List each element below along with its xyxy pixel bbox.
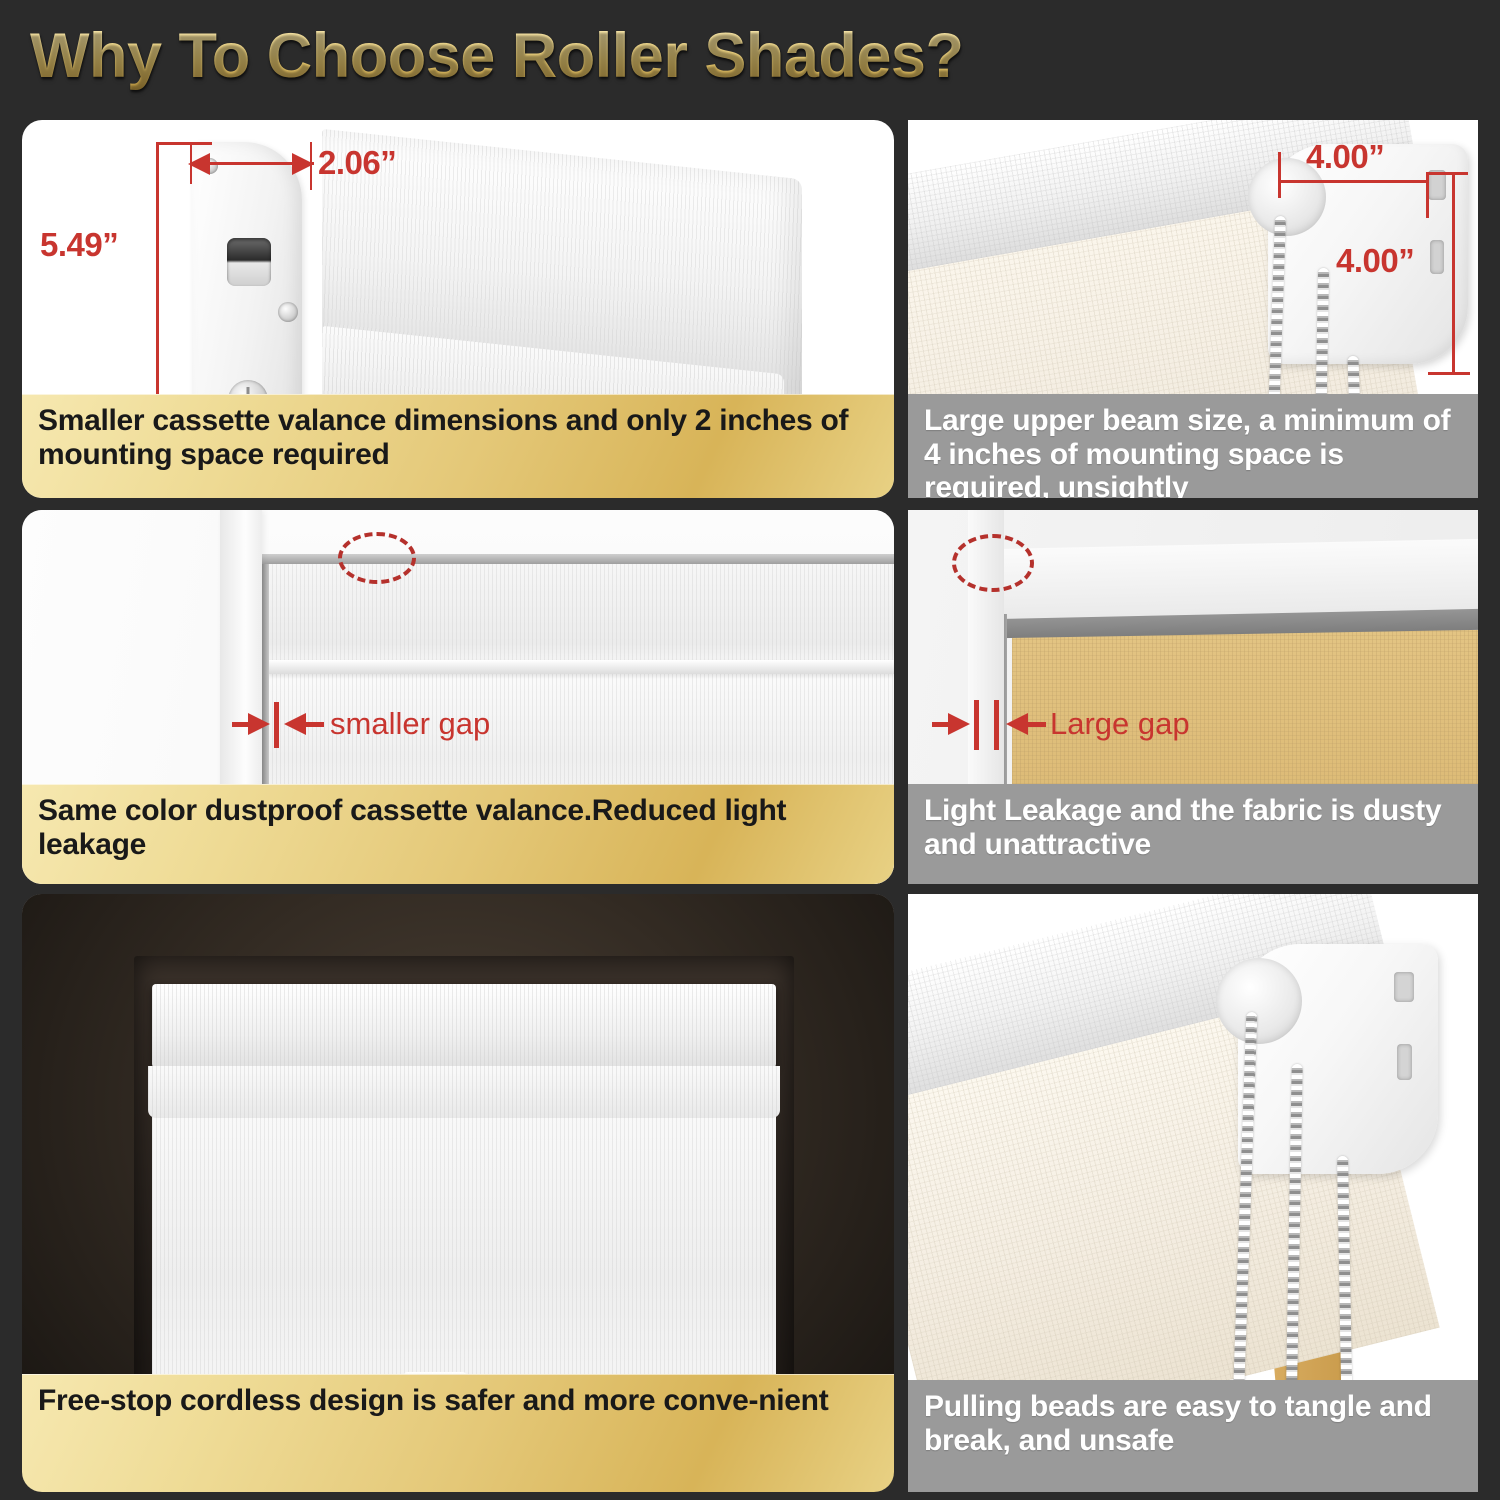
header-bar: Why To Choose Roller Shades?	[0, 0, 1500, 112]
shade-fabric-panel	[152, 1116, 776, 1386]
large-gap-label: Large gap	[1050, 706, 1190, 742]
gap-arrow-left-pointing	[1006, 713, 1028, 735]
cassette-mid-rail	[268, 660, 894, 674]
height-dim-tick-top	[156, 142, 212, 145]
comparison-grid: 2.06” 5.49” Smaller cassette valance dim…	[0, 112, 1500, 1500]
smaller-gap-label: smaller gap	[330, 706, 490, 742]
caption-dustproof-cassette: Same color dustproof cassette valance.Re…	[22, 784, 894, 884]
width-dim-arrow-left	[188, 153, 210, 175]
gap-tick-mark-outer	[994, 700, 999, 750]
highlight-ellipse-bracket	[952, 534, 1034, 592]
gap-tick-mark	[274, 702, 279, 748]
caption-free-stop-cordless: Free-stop cordless design is safer and m…	[22, 1374, 894, 1492]
panel-image-pulling-beads: Pulling beads are easy to tangle and bre…	[908, 894, 1478, 1492]
highlight-ellipse-seam	[338, 532, 416, 584]
panel-free-stop-cordless[interactable]: Free-stop cordless design is safer and m…	[22, 894, 894, 1492]
beam-height-tick-top	[1428, 172, 1468, 175]
beam-height-label: 4.00”	[1336, 242, 1414, 280]
panel-smaller-cassette-valance[interactable]: 2.06” 5.49” Smaller cassette valance dim…	[22, 120, 894, 498]
valance-slot	[227, 238, 271, 286]
gap-tick-mark-inner	[974, 700, 979, 750]
caption-light-leakage: Light Leakage and the fabric is dusty an…	[908, 784, 1478, 884]
cassette-valance-lower	[148, 1066, 780, 1118]
panel-image-free-stop-cordless: Free-stop cordless design is safer and m…	[22, 894, 894, 1492]
panel-image-large-upper-beam: 4.00” 4.00” Large upper beam size, a min…	[908, 120, 1478, 498]
gap-arrow-right-pointing	[948, 713, 970, 735]
beam-width-dim-line	[1280, 180, 1428, 183]
width-dim-arrow-right	[292, 153, 314, 175]
page-title: Why To Choose Roller Shades?	[30, 20, 963, 92]
gap-arrow-left-pointing	[284, 713, 306, 735]
panel-dustproof-cassette[interactable]: smaller gap Same color dustproof cassett…	[22, 510, 894, 884]
beam-width-tick-right	[1426, 172, 1429, 218]
gap-arrow-right-pointing	[248, 713, 270, 735]
panel-large-upper-beam[interactable]: 4.00” 4.00” Large upper beam size, a min…	[908, 120, 1478, 498]
caption-large-upper-beam: Large upper beam size, a minimum of 4 in…	[908, 394, 1478, 498]
roller-end-wheel	[1216, 958, 1302, 1044]
height-dim-line	[156, 142, 159, 432]
panel-pulling-beads[interactable]: Pulling beads are easy to tangle and bre…	[908, 894, 1478, 1492]
beam-width-tick-left	[1278, 152, 1281, 198]
gap-arrow-shaft-right	[306, 722, 324, 727]
gap-arrow-shaft-right	[1028, 722, 1046, 727]
panel-image-light-leakage: Large gap Light Leakage and the fabric i…	[908, 510, 1478, 884]
caption-pulling-beads: Pulling beads are easy to tangle and bre…	[908, 1380, 1478, 1492]
beam-height-dim-line	[1452, 172, 1455, 374]
width-dimension-label: 2.06”	[318, 144, 396, 182]
panel-image-dustproof-cassette: smaller gap Same color dustproof cassett…	[22, 510, 894, 884]
panel-light-leakage[interactable]: Large gap Light Leakage and the fabric i…	[908, 510, 1478, 884]
panel-image-smaller-cassette-valance: 2.06” 5.49” Smaller cassette valance dim…	[22, 120, 894, 498]
height-dimension-label: 5.49”	[40, 226, 118, 264]
valance-screw-middle	[278, 302, 298, 322]
shade-head-rail	[992, 539, 1478, 619]
beam-width-label: 4.00”	[1306, 138, 1384, 176]
beam-height-tick-bottom	[1428, 372, 1470, 375]
cassette-valance	[152, 984, 776, 1068]
caption-smaller-cassette-valance: Smaller cassette valance dimensions and …	[22, 394, 894, 498]
